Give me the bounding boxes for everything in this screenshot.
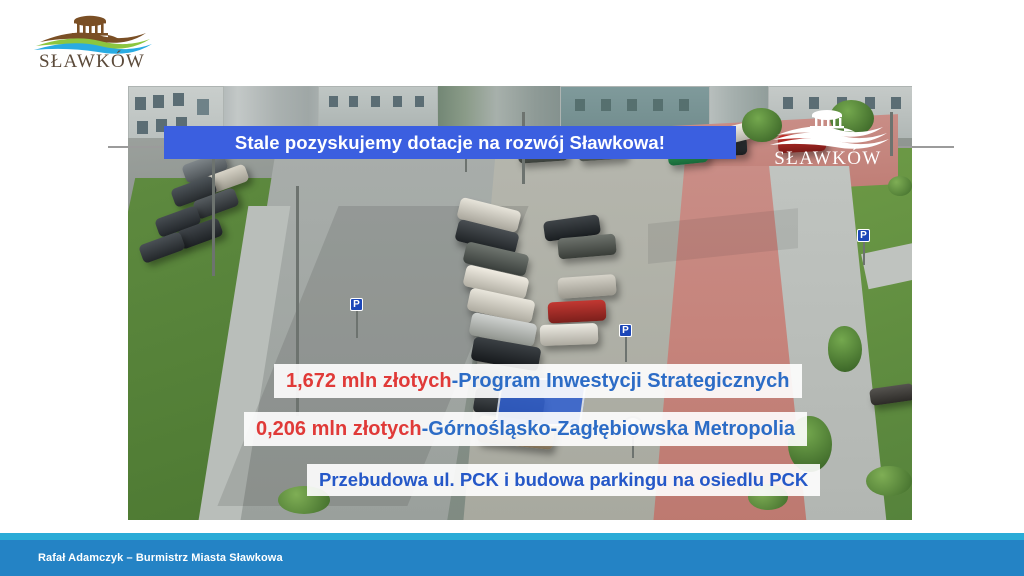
parking-sign-icon: P — [619, 324, 632, 337]
sign-pole — [625, 336, 627, 362]
funding-separator: - — [452, 370, 459, 393]
funding-callout: 1,672 mln złotych - Program Inwestycji S… — [274, 364, 802, 398]
slawkow-logo-icon: SŁAWKÓW — [22, 8, 162, 70]
bush — [888, 176, 912, 196]
funding-program: Program Inwestycji Strategicznych — [458, 370, 789, 393]
car — [540, 323, 599, 346]
slawkow-watermark: SŁAWKÓW — [755, 104, 900, 166]
parking-sign-icon: P — [857, 229, 870, 242]
footer-text: Rafał Adamczyk – Burmistrz Miasta Sławko… — [38, 552, 283, 564]
car — [547, 299, 606, 323]
bush — [866, 466, 912, 496]
footer-bar: Rafał Adamczyk – Burmistrz Miasta Sławko… — [0, 540, 1024, 576]
parking-sign-icon: P — [350, 298, 363, 311]
headline-text: Stale pozyskujemy dotacje na rozwój Sław… — [235, 132, 665, 154]
sign-pole — [863, 241, 865, 265]
footer-accent-strip — [0, 533, 1024, 540]
slawkow-logo: SŁAWKÓW — [22, 8, 162, 70]
funding-callout: 0,206 mln złotych - Górnośląsko-Zagłębio… — [244, 412, 807, 446]
headline-banner: Stale pozyskujemy dotacje na rozwój Sław… — [164, 126, 736, 159]
funding-separator: - — [422, 418, 429, 441]
svg-text:SŁAWKÓW: SŁAWKÓW — [39, 50, 145, 70]
funding-amount: 1,672 mln złotych — [286, 370, 452, 393]
banner-rule-left — [108, 146, 166, 148]
svg-text:SŁAWKÓW: SŁAWKÓW — [774, 147, 881, 166]
presentation-slide: SŁAWKÓW — [0, 0, 1024, 576]
car — [557, 274, 616, 299]
banner-rule-right — [898, 146, 954, 148]
funding-amount: 0,206 mln złotych — [256, 418, 422, 441]
slawkow-watermark-icon: SŁAWKÓW — [755, 104, 900, 166]
project-title: Przebudowa ul. PCK i budowa parkingu na … — [319, 469, 808, 491]
project-title-box: Przebudowa ul. PCK i budowa parkingu na … — [307, 464, 820, 496]
tree — [828, 326, 862, 372]
funding-program: Górnośląsko-Zagłębiowska Metropolia — [428, 418, 795, 441]
sign-pole — [356, 310, 358, 338]
